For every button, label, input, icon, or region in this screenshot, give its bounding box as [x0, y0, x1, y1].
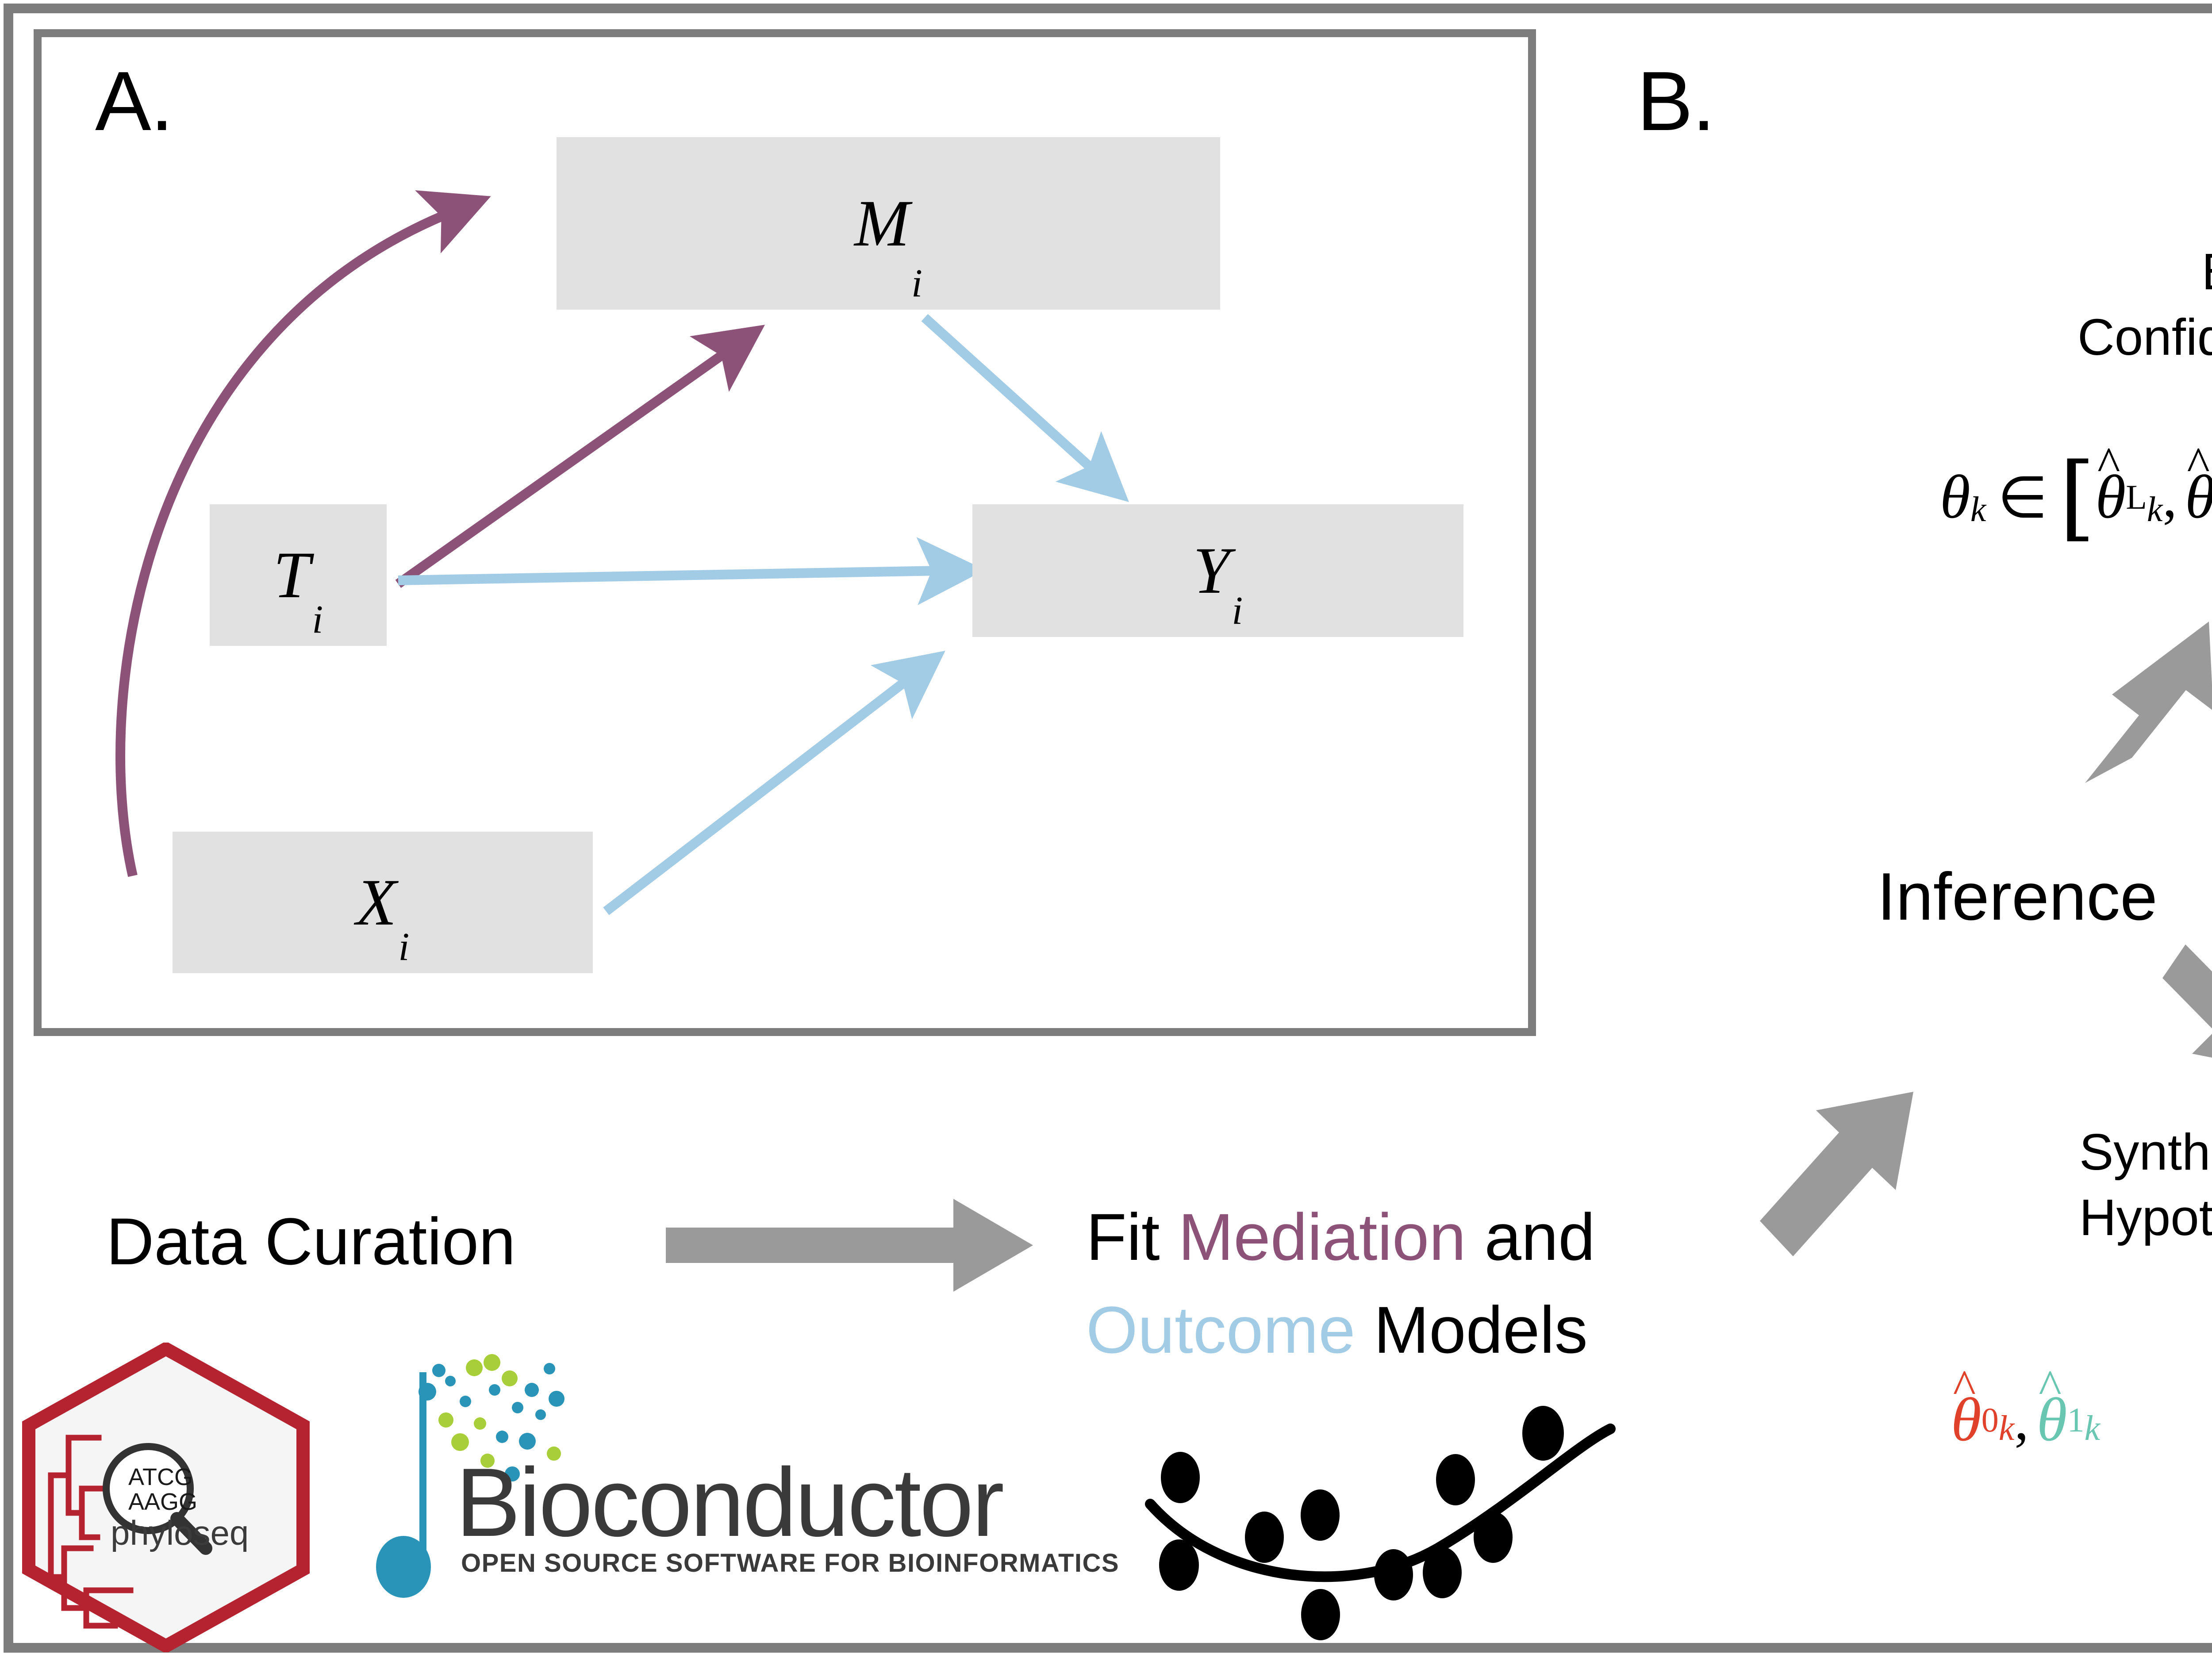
data-curation-label: Data Curation: [106, 1203, 516, 1280]
fit-models-line2-seg-1: Models: [1356, 1293, 1588, 1367]
bioconductor-tagline: OPEN SOURCE SOFTWARE FOR BIOINFORMATICS: [461, 1548, 1119, 1578]
theta-alt-superscript: 1: [2067, 1400, 2085, 1440]
dag-node-mediator: Mi: [557, 137, 1220, 310]
node-subscript: i: [911, 264, 922, 303]
synthetic-null-legend: ^ θ 0k , ^ θ 1k: [1951, 1387, 2100, 1453]
bioconductor-wordmark: Bioconductor: [456, 1447, 1002, 1558]
fit-models-line2-seg-0: Outcome: [1086, 1293, 1356, 1367]
node-subscript: i: [1232, 591, 1243, 631]
legend-comma: ,: [2014, 1387, 2029, 1453]
magnifier-seq-line1: ATCG: [128, 1464, 193, 1490]
dag-node-outcome: Yi: [972, 504, 1463, 637]
fit-models-line1-seg-2: and: [1466, 1200, 1595, 1274]
theta-null-hat-group: ^ θ: [1951, 1389, 1982, 1451]
hat-accent: ^: [2187, 440, 2210, 488]
hat-accent: ^: [2097, 440, 2120, 488]
node-symbol: X: [356, 869, 397, 936]
left-bracket: [: [2059, 460, 2096, 534]
phyloseq-wordmark: phyloseq: [111, 1513, 249, 1553]
magnifier-seq-line2: AAGG: [128, 1489, 197, 1515]
node-subscript: i: [312, 600, 323, 640]
fit-models-line2: Outcome Models: [1086, 1292, 1588, 1368]
bootstrap-title-line2: Confidence Intervals: [2078, 304, 2212, 370]
dag-node-covariates: Xi: [173, 832, 593, 973]
bootstrap-ci-formula: θk ∈ [ ^ θ Lk , ^ θ Uk ]: [1940, 460, 2212, 534]
lower-superscript: L: [2126, 477, 2147, 517]
bootstrap-ci-title: Bootstrap Confidence Intervals: [2078, 239, 2212, 370]
bioconductor-note-icon: [376, 1372, 431, 1598]
theta-alt-subscript: k: [2085, 1408, 2101, 1449]
theta-lower-hat-group: ^ θ: [2095, 466, 2126, 528]
theta-subscript: k: [1970, 490, 1986, 530]
theta-upper-hat-group: ^ θ: [2185, 466, 2212, 528]
lower-subscript: k: [2147, 490, 2163, 530]
theta-alt-hat-group: ^ θ: [2037, 1389, 2067, 1451]
hat-accent: ^: [2039, 1362, 2062, 1411]
dag-node-treatment: Ti: [210, 504, 387, 646]
fit-models-line1: Fit Mediation and: [1086, 1199, 1595, 1275]
theta-null-superscript: 0: [1982, 1400, 1999, 1440]
element-of-symbol: ∈: [1997, 464, 2047, 531]
fit-models-line1-seg-1: Mediation: [1178, 1200, 1466, 1274]
fit-models-line1-seg-0: Fit: [1086, 1200, 1178, 1274]
node-subscript: i: [398, 927, 409, 967]
bootstrap-title-line1: Bootstrap: [2078, 239, 2212, 304]
phyloseq-logo: ATCG AAGG: [20, 1343, 312, 1652]
panel-b-label: B.: [1637, 53, 1715, 150]
inference-label: Inference: [1877, 854, 2158, 940]
formula-comma: ,: [2162, 464, 2177, 530]
hat-accent: ^: [1953, 1362, 1976, 1411]
figure-root: A. Mi Yi Ti Xi B.: [0, 0, 2212, 1677]
synthetic-null-title: Synthetic Null Hypothesis Testing: [2079, 1119, 2212, 1251]
theta-symbol: θ: [1940, 466, 1970, 528]
theta-null-subscript: k: [1999, 1408, 2015, 1449]
panel-a-label: A.: [95, 53, 173, 150]
node-symbol: Y: [1193, 537, 1230, 604]
node-symbol: T: [273, 542, 310, 608]
node-symbol: M: [854, 190, 910, 257]
synthetic-title-line1: Synthetic Null: [2079, 1119, 2212, 1185]
synthetic-title-line2: Hypothesis Testing: [2079, 1185, 2212, 1250]
